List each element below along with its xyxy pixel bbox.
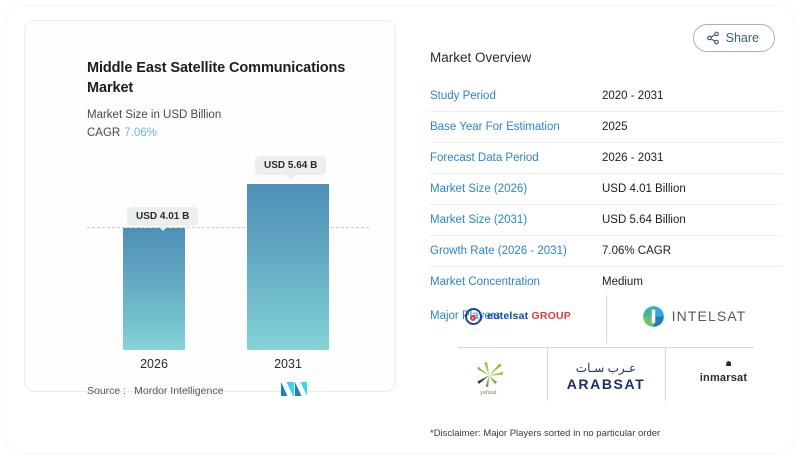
bar-2031[interactable] <box>247 184 329 350</box>
eutelsat-group-word: GROUP <box>531 310 571 322</box>
overview-title: Market Overview <box>430 50 786 65</box>
logo-cell-arabsat: عـرب سـات ARABSAT <box>547 347 665 407</box>
yahsat-wordmark: yahsat <box>480 390 497 396</box>
logo-divider-vertical-2 <box>547 347 548 401</box>
row-key-market-size-2031: Market Size (2031) <box>430 205 602 236</box>
share-button-label: Share <box>726 31 759 45</box>
table-row: Base Year For Estimation 2025 <box>430 112 782 143</box>
logo-row-2: yahsat عـرب سـات ARABSAT ☗ inmarsat <box>430 347 782 407</box>
intelsat-wordmark: INTELSAT <box>672 308 747 324</box>
table-row: Study Period 2020 - 2031 <box>430 81 782 112</box>
report-card: Middle East Satellite Communications Mar… <box>6 6 794 453</box>
x-axis-tick-2026: 2026 <box>123 357 185 371</box>
table-row: Growth Rate (2026 - 2031) 7.06% CAGR <box>430 236 782 267</box>
row-value-forecast-period: 2026 - 2031 <box>602 143 782 174</box>
major-players-logo-grid: eutelsat GROUP INTELSAT <box>430 289 782 411</box>
bar-2026[interactable] <box>123 228 185 350</box>
screenshot-root: Middle East Satellite Communications Mar… <box>0 0 800 459</box>
bar-chart-plot: USD 4.01 B USD 5.64 B 2026 2031 <box>25 21 397 393</box>
inmarsat-logo: ☗ inmarsat <box>700 368 747 386</box>
bar-label-2026: USD 4.01 B <box>127 207 198 226</box>
row-key-market-size-2026: Market Size (2026) <box>430 174 602 205</box>
logo-cell-yahsat: yahsat <box>430 347 547 407</box>
row-value-growth-rate: 7.06% CAGR <box>602 236 782 267</box>
source-value: Mordor Intelligence <box>134 385 223 397</box>
disclaimer-text: *Disclaimer: Major Players sorted in no … <box>430 428 660 439</box>
arabsat-latin-wordmark: ARABSAT <box>567 376 646 392</box>
arabsat-logo: عـرب سـات ARABSAT <box>567 362 646 391</box>
row-value-study-period: 2020 - 2031 <box>602 81 782 112</box>
eutelsat-logo: eutelsat GROUP <box>465 308 571 325</box>
table-row: Forecast Data Period 2026 - 2031 <box>430 143 782 174</box>
row-key-forecast-period: Forecast Data Period <box>430 143 602 174</box>
table-row: Market Size (2026) USD 4.01 Billion <box>430 174 782 205</box>
table-row: Market Size (2031) USD 5.64 Billion <box>430 205 782 236</box>
row-value-base-year: 2025 <box>602 112 782 143</box>
market-overview-panel: Market Overview Study Period 2020 - 2031… <box>430 50 786 322</box>
yahsat-logo: yahsat <box>472 359 506 396</box>
chart-source: Source :Mordor Intelligence <box>87 385 223 397</box>
source-label: Source : <box>87 385 126 397</box>
eutelsat-wordmark: eutelsat GROUP <box>487 310 571 322</box>
eutelsat-mark-icon <box>465 308 482 325</box>
overview-table: Study Period 2020 - 2031 Base Year For E… <box>430 81 782 297</box>
row-key-growth-rate: Growth Rate (2026 - 2031) <box>430 236 602 267</box>
eutelsat-word: eutelsat <box>487 310 528 322</box>
row-key-base-year: Base Year For Estimation <box>430 112 602 143</box>
logo-divider-vertical-3 <box>665 347 666 401</box>
mordor-intelligence-logo <box>281 381 307 397</box>
chart-card: Middle East Satellite Communications Mar… <box>24 20 396 392</box>
share-icon <box>706 31 720 45</box>
x-axis-tick-2031: 2031 <box>247 357 329 371</box>
logo-row-1: eutelsat GROUP INTELSAT <box>430 289 782 343</box>
logo-cell-eutelsat: eutelsat GROUP <box>430 289 606 343</box>
row-value-market-size-2031: USD 5.64 Billion <box>602 205 782 236</box>
logo-cell-intelsat: INTELSAT <box>606 289 782 343</box>
bar-label-2031: USD 5.64 B <box>255 156 326 175</box>
logo-cell-inmarsat: ☗ inmarsat <box>665 347 782 407</box>
arabsat-arabic-wordmark: عـرب سـات <box>576 362 636 375</box>
intelsat-logo: INTELSAT <box>642 305 747 328</box>
row-value-market-size-2026: USD 4.01 Billion <box>602 174 782 205</box>
yahsat-mark-icon <box>472 359 506 389</box>
inmarsat-wordmark: inmarsat <box>700 372 747 384</box>
row-key-study-period: Study Period <box>430 81 602 112</box>
intelsat-mark-icon <box>642 305 665 328</box>
share-button[interactable]: Share <box>693 24 775 52</box>
logo-divider-vertical-1 <box>606 295 607 343</box>
inmarsat-mark-icon: ☗ <box>725 360 731 368</box>
